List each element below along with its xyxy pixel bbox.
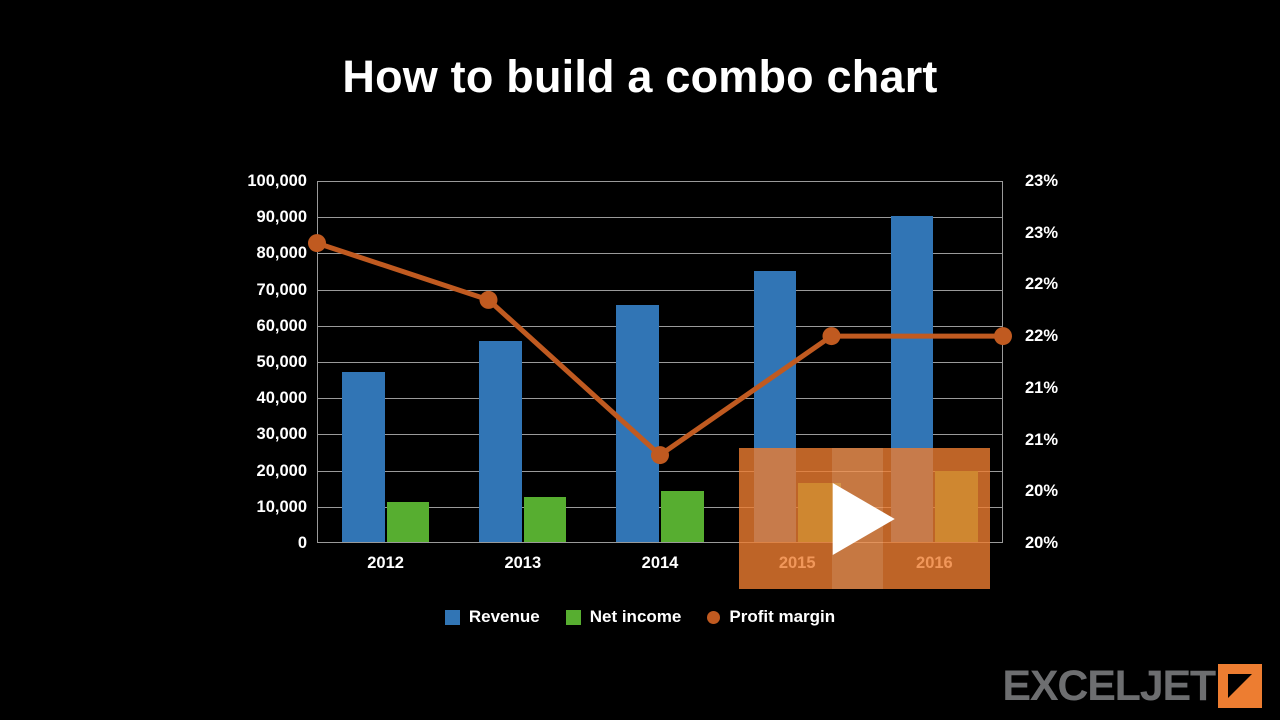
combo-chart: 010,00020,00030,00040,00050,00060,00070,… — [225, 160, 1055, 640]
legend-square-icon — [566, 610, 581, 625]
legend-item[interactable]: Net income — [566, 607, 682, 627]
x-axis-tick: 2014 — [642, 554, 679, 573]
y-axis-right-tick: 21% — [1025, 431, 1058, 448]
y-axis-left-tick: 40,000 — [257, 390, 307, 407]
y-axis-right-tick: 23% — [1025, 224, 1058, 241]
line-data-point — [480, 291, 498, 309]
y-axis-left-tick: 20,000 — [257, 462, 307, 479]
legend-circle-icon — [707, 611, 720, 624]
y-axis-right-tick: 22% — [1025, 276, 1058, 293]
legend-item-label: Revenue — [469, 607, 540, 627]
y-axis-left-tick: 10,000 — [257, 499, 307, 516]
line-data-point — [823, 327, 841, 345]
x-axis-tick: 2012 — [367, 554, 404, 573]
y-axis-right-tick: 21% — [1025, 380, 1058, 397]
y-axis-left-tick: 90,000 — [257, 209, 307, 226]
y-axis-right-tick: 20% — [1025, 535, 1058, 552]
legend-item[interactable]: Profit margin — [707, 607, 835, 627]
play-icon[interactable] — [832, 483, 894, 555]
y-axis-right-tick: 22% — [1025, 328, 1058, 345]
line-data-point — [994, 327, 1012, 345]
y-axis-left-tick: 70,000 — [257, 281, 307, 298]
legend-item[interactable]: Revenue — [445, 607, 540, 627]
bar-net-income — [661, 491, 704, 542]
gridline — [317, 181, 1003, 182]
x-axis-tick: 2013 — [504, 554, 541, 573]
exceljet-logo: EXCELJET — [1002, 664, 1262, 708]
bar-net-income — [524, 497, 567, 542]
legend-item-label: Net income — [590, 607, 682, 627]
chart-legend: RevenueNet incomeProfit margin — [225, 607, 1055, 627]
y-axis-left-tick: 80,000 — [257, 245, 307, 262]
logo-mark-icon — [1218, 664, 1262, 708]
y-axis-left-tick: 0 — [298, 535, 307, 552]
logo-wordmark: EXCELJET — [1002, 665, 1215, 708]
y-axis-left-tick: 50,000 — [257, 354, 307, 371]
y-axis-right-tick: 20% — [1025, 483, 1058, 500]
bar-revenue — [479, 341, 522, 542]
y-axis-left-tick: 100,000 — [247, 173, 307, 190]
bar-net-income — [387, 502, 430, 542]
bar-revenue — [616, 305, 659, 542]
video-play-overlay[interactable] — [739, 448, 990, 589]
bar-revenue — [342, 372, 385, 542]
legend-item-label: Profit margin — [729, 607, 835, 627]
legend-square-icon — [445, 610, 460, 625]
slide-canvas: How to build a combo chart 010,00020,000… — [0, 0, 1280, 720]
y-axis-left-tick: 30,000 — [257, 426, 307, 443]
page-title: How to build a combo chart — [0, 52, 1280, 102]
y-axis-left-tick: 60,000 — [257, 318, 307, 335]
y-axis-right-tick: 23% — [1025, 173, 1058, 190]
